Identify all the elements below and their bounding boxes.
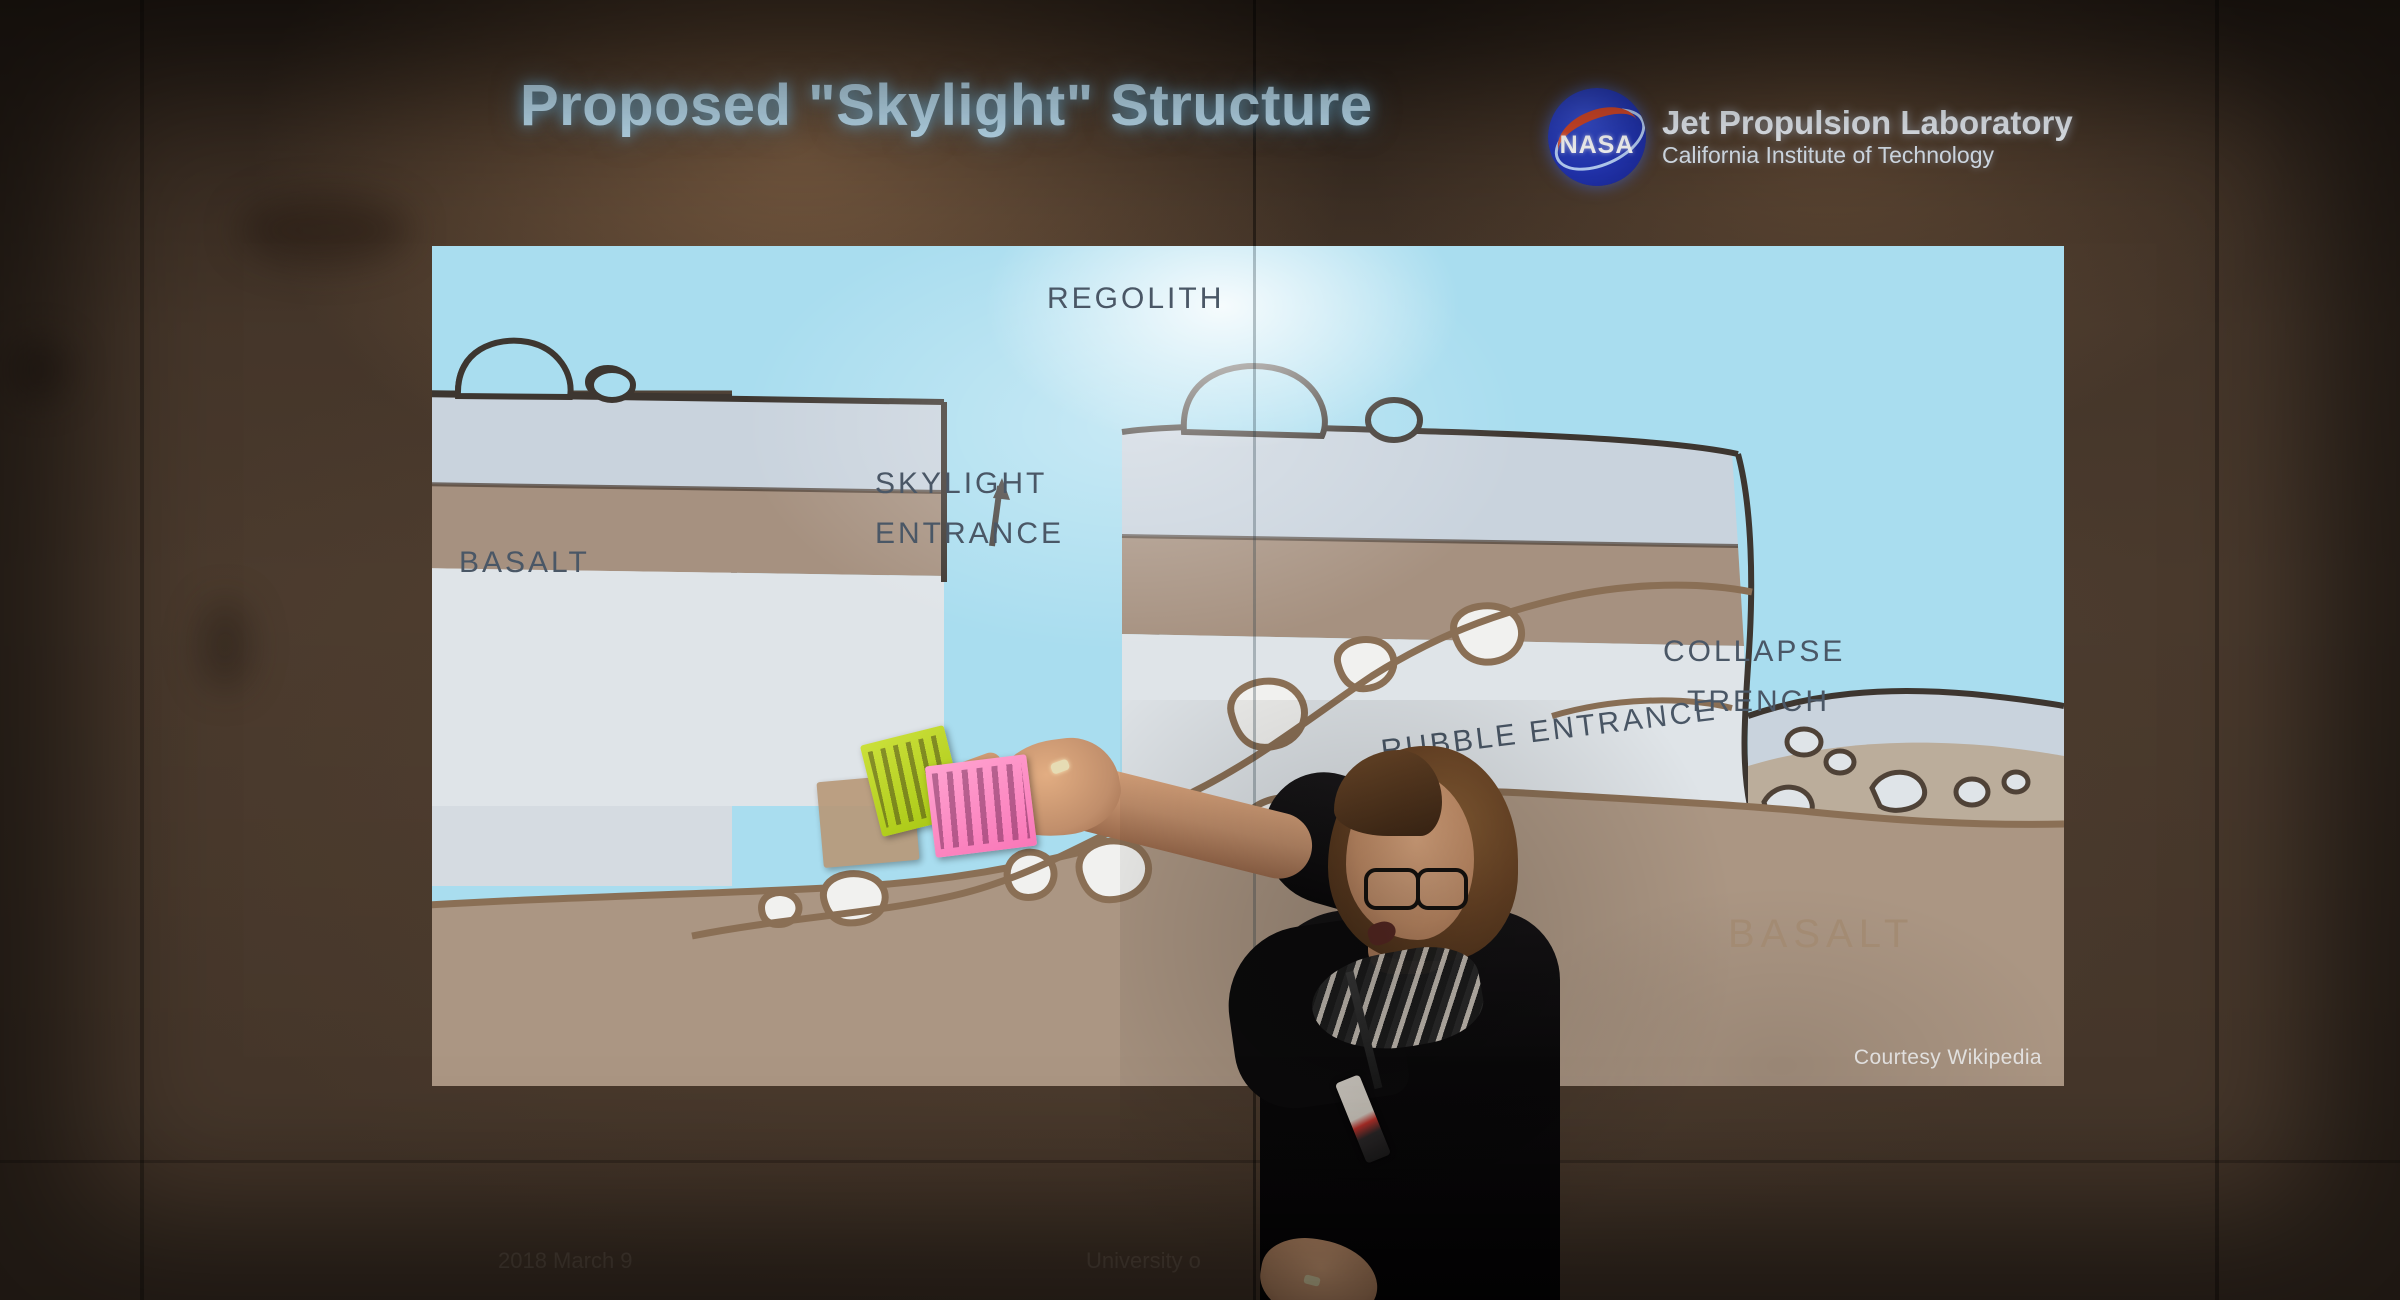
label-skylight-entrance-line2: ENTRANCE	[875, 517, 1064, 551]
wall-smudge-1	[240, 195, 410, 265]
nasa-jpl-logo: NASA Jet Propulsion Laboratory Californi…	[1548, 88, 2073, 186]
label-skylight-entrance-line1: SKYLIGHT	[875, 467, 1047, 501]
hair-front	[1334, 750, 1442, 836]
glasses-icon	[1364, 868, 1474, 902]
glasses-lens-left	[1364, 868, 1420, 910]
presenter-head	[1328, 746, 1518, 956]
jpl-line-2: California Institute of Technology	[1662, 144, 2073, 168]
courtesy-credit: Courtesy Wikipedia	[1854, 1046, 2042, 1070]
nasa-wordmark: NASA	[1548, 131, 1646, 160]
presenter	[960, 720, 1520, 1300]
wall-smudge-2	[10, 340, 70, 400]
label-basalt-left: BASALT	[459, 546, 590, 580]
wall-smudge-3	[200, 600, 250, 690]
jpl-wordmark: Jet Propulsion Laboratory California Ins…	[1662, 106, 2073, 167]
label-regolith: REGOLITH	[1047, 282, 1224, 316]
label-collapse-trench-line1: COLLAPSE	[1663, 635, 1845, 669]
sticky-note-pink-writing	[932, 763, 1031, 849]
slide-title: Proposed "Skylight" Structure	[520, 72, 1373, 139]
label-basalt-right: BASALT	[1728, 912, 1914, 957]
wall-seam-right	[2215, 0, 2219, 1300]
slide-footer-date: 2018 March 9	[498, 1248, 633, 1274]
glasses-lens-right	[1416, 868, 1468, 910]
jpl-line-1: Jet Propulsion Laboratory	[1662, 106, 2073, 140]
ring-icon	[1050, 758, 1071, 774]
nasa-meatball-icon: NASA	[1548, 88, 1646, 186]
presentation-photo: Proposed "Skylight" Structure NASA Jet P…	[0, 0, 2400, 1300]
sticky-note-pink[interactable]	[925, 754, 1037, 858]
wall-seam-left	[140, 0, 144, 1300]
label-collapse-trench-line2: TRENCH	[1687, 685, 1830, 719]
